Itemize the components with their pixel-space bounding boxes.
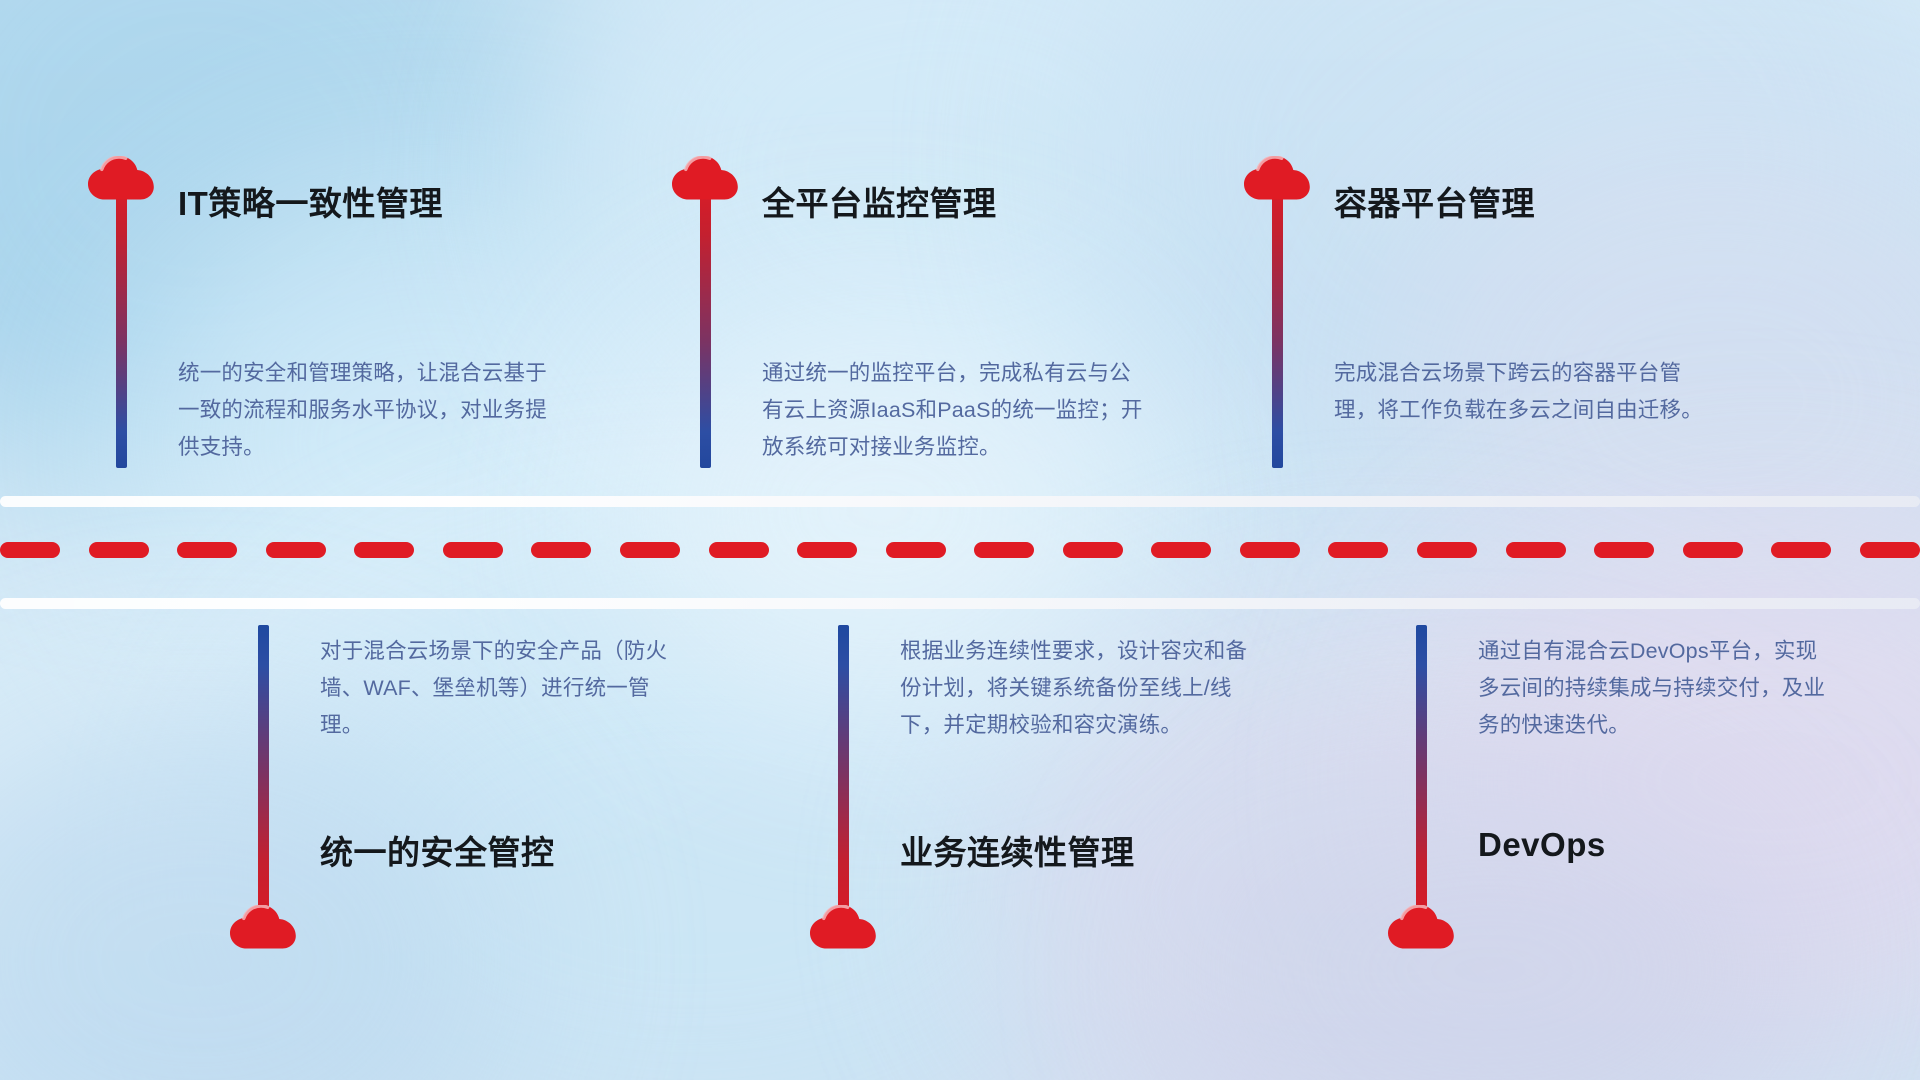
infographic-canvas: IT策略一致性管理 统一的安全和管理策略，让混合云基于一致的流程和服务水平协议，…: [0, 0, 1920, 1080]
card-body: 通过自有混合云DevOps平台，实现多云间的持续集成与持续交付，及业务的快速迭代…: [1478, 633, 1828, 744]
road-dash: [531, 542, 591, 558]
road-dash: [1328, 542, 1388, 558]
road-dash: [354, 542, 414, 558]
stem-line: [1416, 625, 1427, 920]
road-dash: [1683, 542, 1743, 558]
road-dash: [886, 542, 946, 558]
road-edge-line-top: [0, 496, 1920, 507]
stem-line: [700, 168, 711, 468]
road-dash: [1860, 542, 1920, 558]
card-title: 容器平台管理: [1334, 177, 1535, 225]
road-dash: [974, 542, 1034, 558]
road-edge-line-bottom: [0, 598, 1920, 609]
card-body: 对于混合云场景下的安全产品（防火墙、WAF、堡垒机等）进行统一管理。: [320, 633, 670, 744]
road-dash: [1594, 542, 1654, 558]
card-title: 统一的安全管控: [320, 826, 555, 874]
road-dash: [797, 542, 857, 558]
cloud-icon: [810, 905, 876, 949]
cloud-icon: [230, 905, 296, 949]
road-dash: [0, 542, 60, 558]
road-dash: [1240, 542, 1300, 558]
card-title: IT策略一致性管理: [178, 177, 443, 225]
road-dash: [89, 542, 149, 558]
card-title: 全平台监控管理: [762, 177, 997, 225]
stem-line: [1272, 168, 1283, 468]
card-title: 业务连续性管理: [900, 826, 1135, 874]
card-title: DevOps: [1478, 826, 1606, 864]
road-dash: [1151, 542, 1211, 558]
road-dash: [1771, 542, 1831, 558]
road-dash: [443, 542, 503, 558]
stem-line: [258, 625, 269, 920]
cloud-icon: [1244, 156, 1310, 200]
cloud-icon: [1388, 905, 1454, 949]
card-body: 完成混合云场景下跨云的容器平台管理，将工作负载在多云之间自由迁移。: [1334, 355, 1714, 429]
road-dash: [709, 542, 769, 558]
road-dash: [620, 542, 680, 558]
stem-line: [838, 625, 849, 920]
card-body: 通过统一的监控平台，完成私有云与公有云上资源IaaS和PaaS的统一监控；开放系…: [762, 355, 1144, 466]
card-body: 根据业务连续性要求，设计容灾和备份计划，将关键系统备份至线上/线下，并定期校验和…: [900, 633, 1260, 744]
cloud-icon: [672, 156, 738, 200]
road-dash: [1417, 542, 1477, 558]
card-body: 统一的安全和管理策略，让混合云基于一致的流程和服务水平协议，对业务提供支持。: [178, 355, 558, 466]
cloud-icon: [88, 156, 154, 200]
road-dashed-center-line: [0, 542, 1920, 558]
road-dash: [177, 542, 237, 558]
road-dash: [1506, 542, 1566, 558]
stem-line: [116, 168, 127, 468]
road-dash: [266, 542, 326, 558]
road-dash: [1063, 542, 1123, 558]
